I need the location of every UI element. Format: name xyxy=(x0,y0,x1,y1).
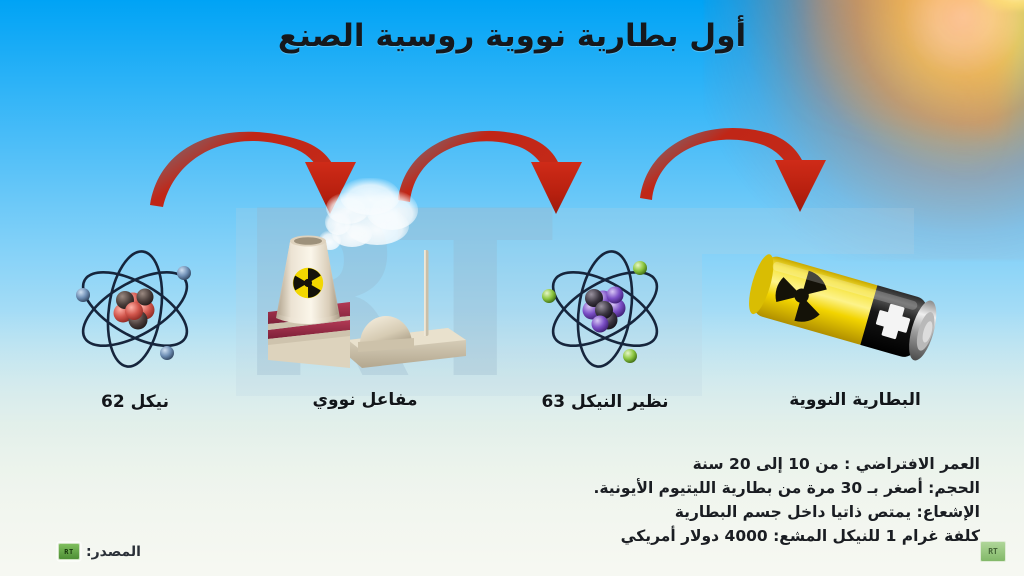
steam-plume xyxy=(319,178,418,250)
item-label-nuclear-reactor: مفاعل نووي xyxy=(250,390,480,410)
antenna xyxy=(424,250,429,336)
item-nuclear-reactor: مفاعل نووي xyxy=(250,178,480,410)
rt-logo-icon: RT xyxy=(58,543,80,560)
corner-rt-logo-icon: RT xyxy=(980,541,1006,562)
spec-lifetime: العمر الافتراضي : من 10 إلى 20 سنة xyxy=(510,452,980,476)
item-nuclear-battery: البطارية النووية xyxy=(715,240,995,410)
atom-icon xyxy=(520,240,690,378)
source-attribution: المصدر: RT xyxy=(58,543,141,560)
atom-icon xyxy=(50,240,220,378)
spec-radiation: الإشعاع: يمتص ذاتيا داخل جسم البطارية xyxy=(510,500,980,524)
infographic-canvas: RT أول بطارية نووية روسية الصنع xyxy=(0,0,1024,576)
item-nickel-62: نيكل 62 xyxy=(20,240,250,412)
source-label: المصدر: xyxy=(86,544,141,560)
item-label-nuclear-battery: البطارية النووية xyxy=(715,390,995,410)
spec-size: الحجم: أصغر بـ 30 مرة من بطارية الليتيوم… xyxy=(510,476,980,500)
specifications-block: العمر الافتراضي : من 10 إلى 20 سنة الحجم… xyxy=(510,452,980,548)
item-nickel-63-isotope: نظير النيكل 63 xyxy=(490,240,720,412)
spec-cost: كلفة غرام 1 للنيكل المشع: 4000 دولار أمر… xyxy=(510,524,980,548)
corner-rt-logo-text: RT xyxy=(988,547,998,556)
item-label-nickel-62: نيكل 62 xyxy=(20,392,250,412)
nuclear-reactor-icon xyxy=(252,178,478,378)
page-title: أول بطارية نووية روسية الصنع xyxy=(0,18,1024,54)
item-label-nickel-63: نظير النيكل 63 xyxy=(490,392,720,412)
battery-icon xyxy=(730,240,980,378)
sun-core xyxy=(968,0,1024,10)
reactor-dome xyxy=(358,316,414,352)
rt-logo-text: RT xyxy=(64,548,73,556)
